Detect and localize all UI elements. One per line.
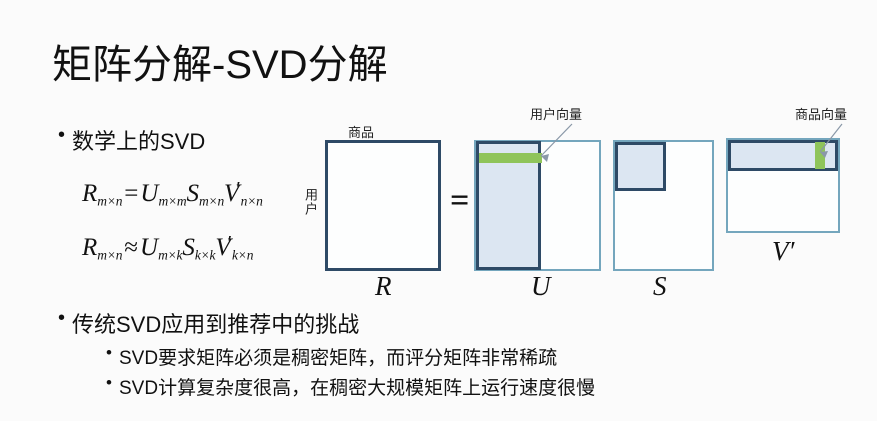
svd-decomposition-diagram: 商品 用户 R = U 用户向量 S V′ 商品向量 — [0, 0, 877, 421]
callout-item-vector-arrow — [0, 0, 877, 421]
slide-canvas: 矩阵分解-SVD分解 •数学上的SVD Rm×n=Um×mSm×nV′n×n R… — [0, 0, 877, 421]
